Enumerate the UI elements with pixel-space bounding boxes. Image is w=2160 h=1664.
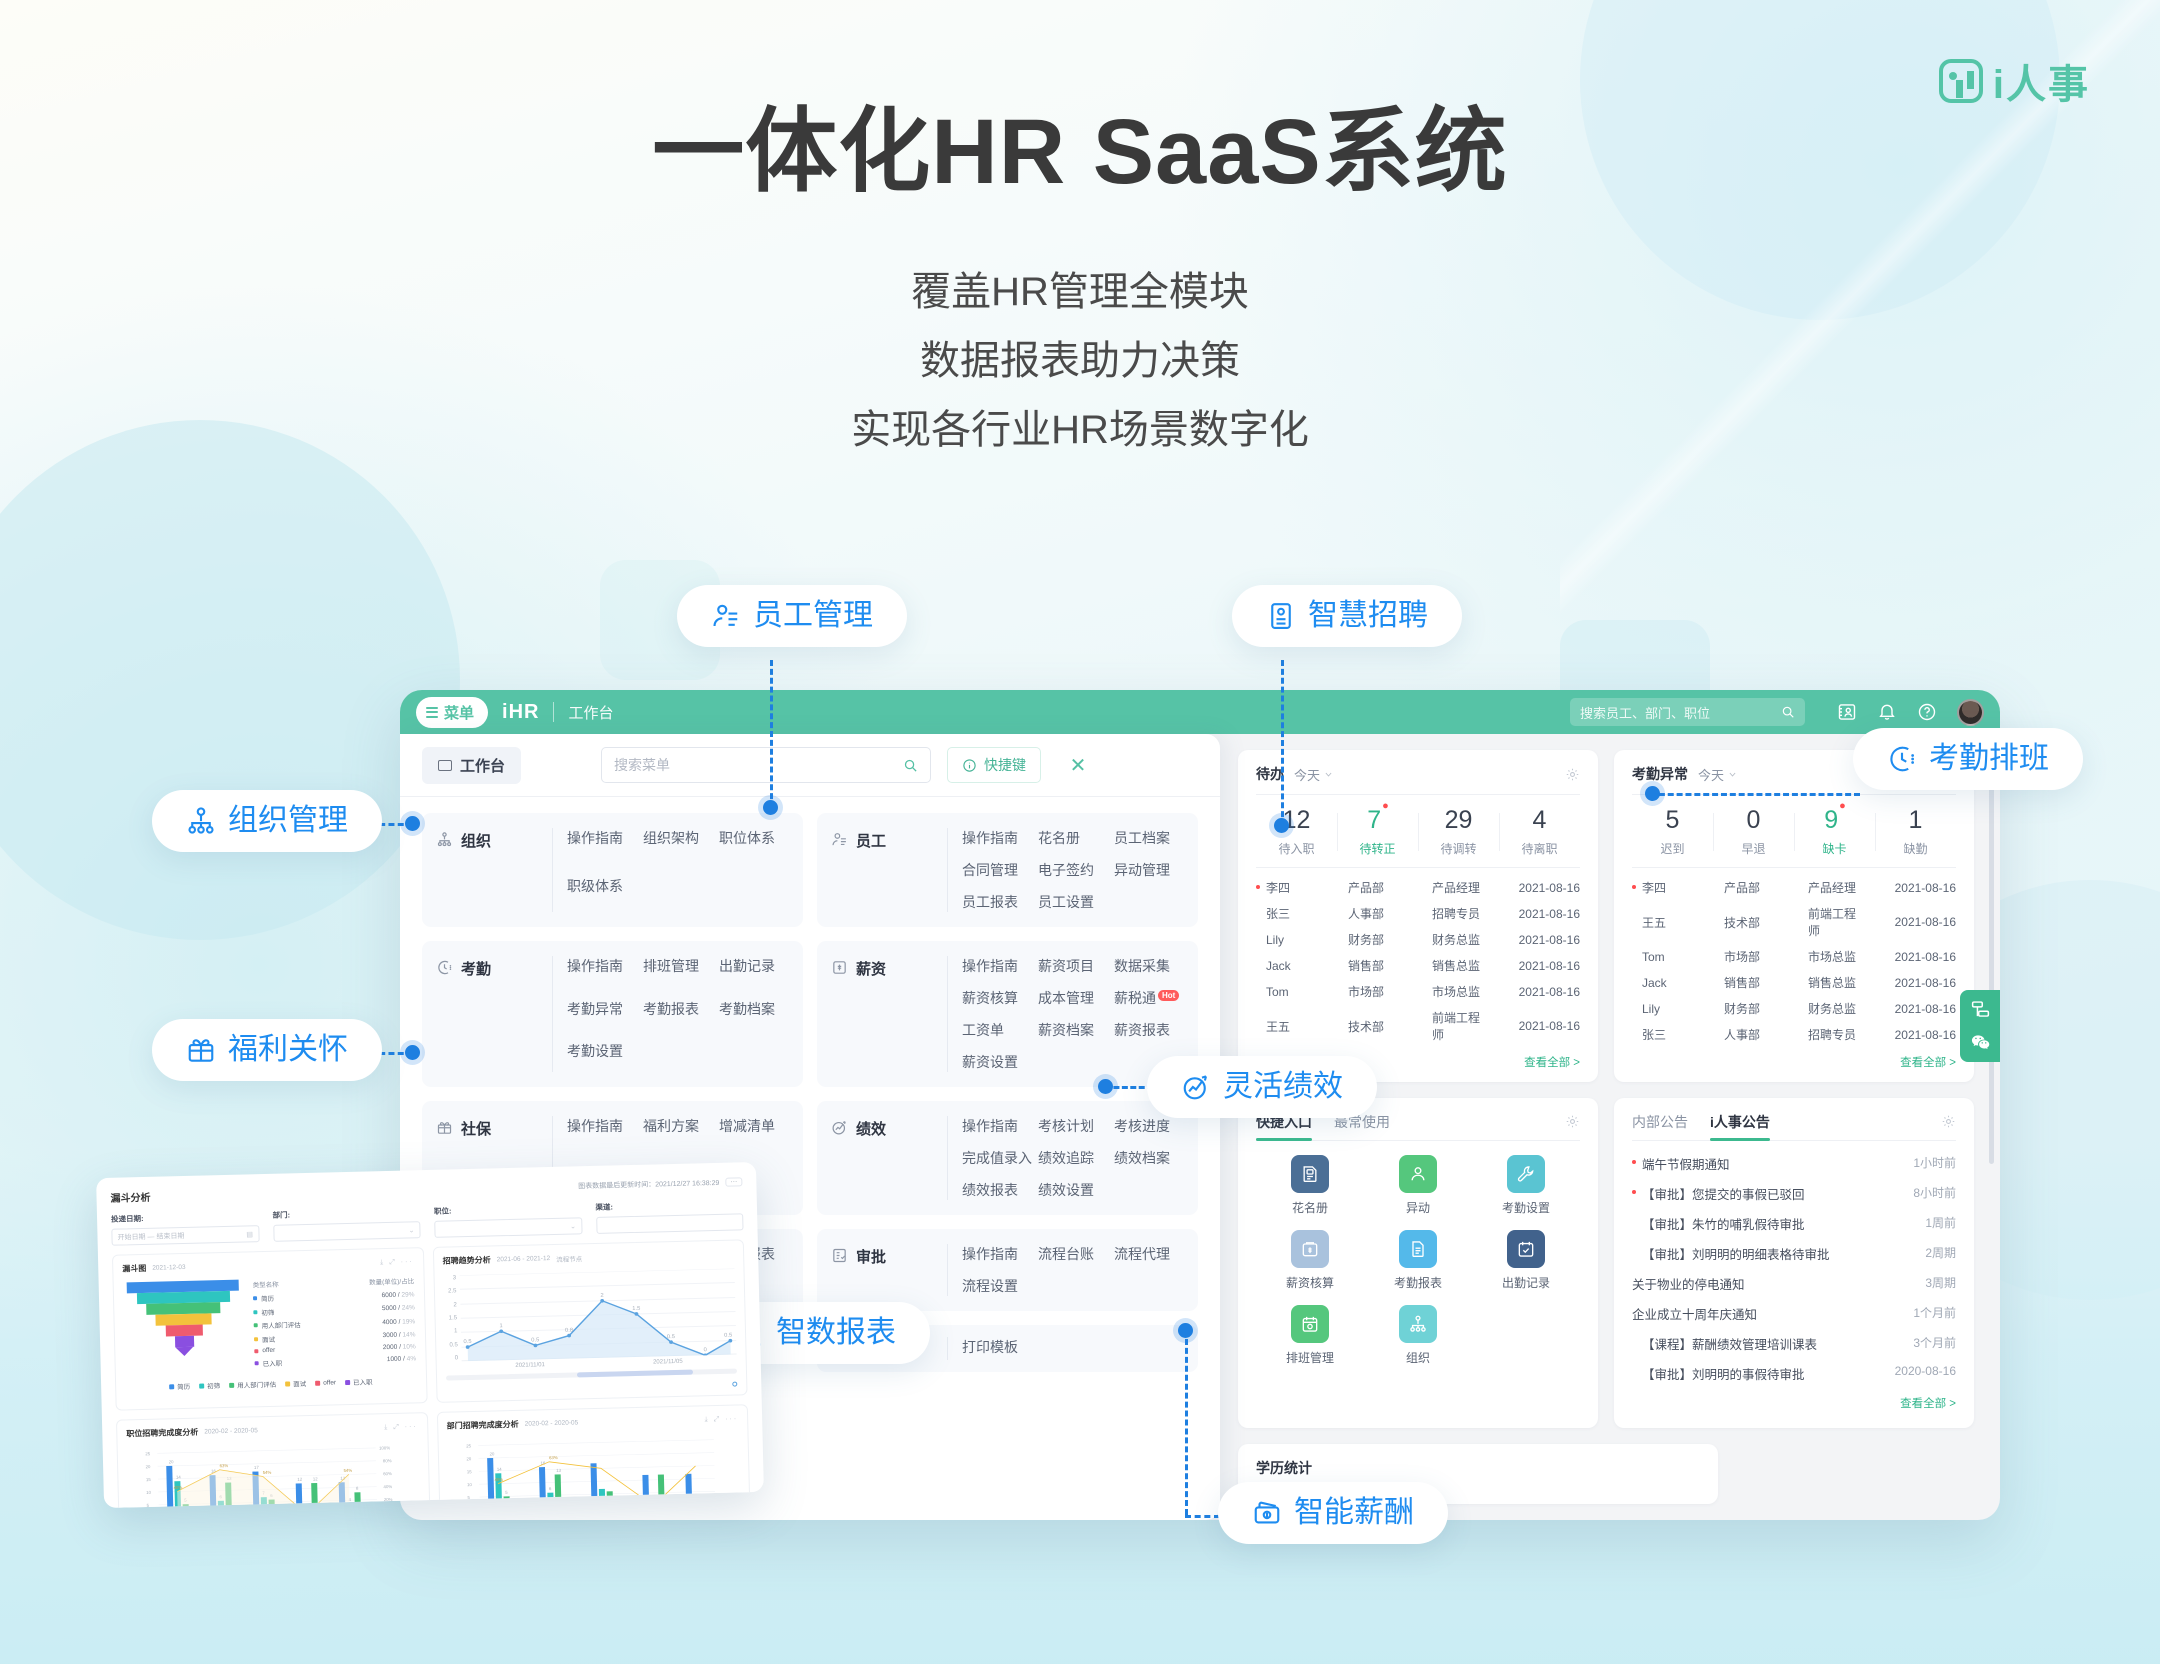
global-search-placeholder: 搜索员工、部门、职位 (1580, 703, 1773, 722)
menu-button-label: 菜单 (444, 702, 474, 723)
svg-text:5: 5 (505, 1490, 508, 1495)
menu-item[interactable]: 操作指南 (962, 828, 1034, 848)
menu-item[interactable]: 考勤异常 (567, 999, 639, 1030)
chart-header: 招聘趋势分析 2021-06 - 2021-12 流程节点 (443, 1249, 735, 1267)
callout-reports-label: 智数报表 (776, 1318, 896, 1348)
hamburger-icon (426, 707, 438, 718)
notice-title: 【课程】薪酬绩效管理培训课表 (1642, 1338, 1817, 1352)
svg-text:40%: 40% (383, 1484, 392, 1489)
bell-icon[interactable] (1877, 702, 1897, 722)
quick-item-label: 考勤报表 (1364, 1274, 1472, 1291)
list-item[interactable]: 端午节假期通知1小时前 (1632, 1149, 1956, 1179)
todo-stat-label: 待入职 (1256, 840, 1337, 857)
list-item[interactable]: 【审批】您提交的事假已驳回8小时前 (1632, 1179, 1956, 1209)
callout-payroll[interactable]: 智能薪酬 (1218, 1482, 1448, 1544)
menu-item[interactable]: 操作指南 (962, 1244, 1034, 1264)
legend-name: 简历 (261, 1290, 375, 1303)
salary-icon (1291, 1230, 1329, 1268)
calendar-icon: ▤ (246, 1230, 253, 1238)
y-tick: 2.5 (443, 1289, 456, 1295)
attendance-stat-value: 0 (1713, 807, 1794, 835)
position-select[interactable]: ⌄ (434, 1217, 582, 1238)
attendance-title: 考勤异常 (1632, 764, 1688, 784)
legend-name: 面试 (262, 1331, 376, 1344)
avatar[interactable] (1957, 699, 1984, 726)
analytics-filters: 投递日期: 开始日期 — 结束日期 ▤ 部门: ⌄ 职位: ⌄ 渠道: (111, 1198, 744, 1245)
row-name: Lily (1266, 933, 1284, 947)
hero-subtitle-2: 数据报表助力决策 (0, 327, 2160, 396)
attendance-stat-label: 早退 (1713, 840, 1794, 857)
quick-item-label: 排班管理 (1256, 1349, 1364, 1366)
y-tick: 0 (445, 1355, 458, 1361)
dashboard-area: 待办 今天 12待入职 7●待转正 29待调转 4待离职 李四产 (1220, 734, 2000, 1520)
contacts-icon[interactable] (1837, 702, 1857, 722)
x-tick: 2021/11/01 (515, 1362, 545, 1369)
menu-item[interactable]: 异动管理 (1114, 860, 1186, 880)
row-date: 2021-08-16 (1488, 985, 1580, 999)
id-card-icon (1266, 601, 1296, 631)
legend-label: 用人部门评估 (237, 1379, 276, 1390)
table-row[interactable]: 李四产品部产品经理2021-08-16 (1632, 875, 1956, 901)
svg-text:54%: 54% (343, 1468, 352, 1473)
chart-range: 2020-02 - 2020-05 (204, 1427, 258, 1435)
row-date: 2021-08-16 (1488, 959, 1580, 973)
notice-title: 企业成立十周年庆通知 (1632, 1308, 1757, 1322)
attendance-stat[interactable]: 9●缺卡 (1794, 807, 1875, 857)
svg-text:80%: 80% (383, 1458, 392, 1463)
menu-item[interactable]: 流程台账 (1038, 1244, 1110, 1264)
attendance-card: 考勤异常 今天 5迟到 0早退 9●缺卡 1缺勤 李四产品部产品经理2021-0… (1614, 750, 1974, 1082)
connector-employee (770, 660, 773, 808)
menu-item[interactable]: 操作指南 (567, 1116, 639, 1152)
todo-stat-label: 待离职 (1499, 840, 1580, 857)
menu-item[interactable]: 绩效设置 (1038, 1180, 1110, 1200)
trend-scroll-slider[interactable] (445, 1369, 737, 1381)
quick-item-attendance-settings[interactable]: 考勤设置 (1472, 1155, 1580, 1216)
hot-badge: Hot (1158, 990, 1179, 1001)
quick-item-roster[interactable]: 花名册 (1256, 1155, 1364, 1216)
svg-text:15: 15 (146, 1477, 152, 1482)
menu-item[interactable]: 考勤档案 (719, 999, 791, 1030)
attendance-stat[interactable]: 1缺勤 (1875, 807, 1956, 857)
trend-canvas: 0.5 1 0.5 0.8 2 1.5 0.5 0 0.5 (459, 1269, 737, 1362)
notice-time: 3个月前 (1913, 1334, 1956, 1353)
legend-row: 已入职1000 / 4% (255, 1354, 417, 1368)
notice-title: 关于物业的停电通知 (1632, 1278, 1745, 1292)
menu-group-name: 组织 (461, 830, 491, 851)
menu-item[interactable]: 打印模板 (962, 1337, 1034, 1360)
row-dept: 产品部 (1724, 879, 1808, 896)
menu-group-items: 操作指南 薪资项目 数据采集 薪资核算 成本管理 薪税通Hot 工资单 薪资档案… (947, 956, 1186, 1072)
row-job: 产品经理 (1432, 879, 1488, 896)
row-date: 2021-08-16 (1864, 881, 1956, 895)
callout-recruit-label: 智慧招聘 (1308, 601, 1428, 631)
row-date: 2021-08-16 (1864, 1028, 1956, 1042)
legend-entry[interactable]: 简历 (169, 1381, 190, 1392)
notice-time: 1个月前 (1913, 1304, 1956, 1323)
svg-text:1.5: 1.5 (632, 1306, 640, 1312)
menu-item[interactable]: 流程设置 (962, 1276, 1034, 1296)
callout-performance[interactable]: 灵活绩效 (1147, 1056, 1377, 1118)
legend-percent: 4% (407, 1355, 417, 1362)
svg-text:12: 12 (297, 1477, 303, 1482)
gear-icon[interactable] (1565, 767, 1580, 782)
menu-item[interactable]: 职位体系 (719, 828, 791, 864)
callout-performance-label: 灵活绩效 (1223, 1072, 1343, 1102)
callout-org[interactable]: 组织管理 (152, 790, 382, 852)
chart-tools[interactable]: ⤓ ⤢ ··· (384, 1423, 418, 1432)
menu-group-approval: 审批 操作指南 流程台账 流程代理 流程设置 (817, 1229, 1198, 1311)
callout-employee[interactable]: 员工管理 (677, 585, 907, 647)
menu-item[interactable]: 成本管理 (1038, 988, 1110, 1008)
menu-item[interactable]: 薪资报表 (1114, 1020, 1186, 1040)
attendance-stats: 5迟到 0早退 9●缺卡 1缺勤 (1632, 795, 1956, 867)
svg-text:14: 14 (176, 1475, 182, 1480)
row-job: 销售总监 (1808, 974, 1864, 991)
svg-text:20: 20 (466, 1456, 472, 1461)
funnel-graphic (123, 1280, 245, 1358)
chart-title: 职位招聘完成度分析 (126, 1427, 198, 1440)
chart-extra: 流程节点 (556, 1253, 582, 1264)
todo-stat[interactable]: 29待调转 (1418, 807, 1499, 857)
menu-group-items: 操作指南 排班管理 出勤记录 考勤异常 考勤报表 考勤档案 考勤设置 (552, 956, 791, 1072)
quick-item-label: 考勤设置 (1472, 1199, 1580, 1216)
callout-recruit[interactable]: 智慧招聘 (1232, 585, 1462, 647)
row-name: Jack (1642, 976, 1667, 990)
tab-workbench[interactable]: 工作台 (422, 747, 521, 784)
gear-icon[interactable] (1941, 1114, 1956, 1129)
list-item[interactable]: 【课程】薪酬绩效管理培训课表3个月前 (1632, 1329, 1956, 1359)
svg-text:60%: 60% (383, 1471, 392, 1476)
chart-header: 漏斗图 2021-12-03 ⤓ ⤢ ··· (122, 1256, 414, 1274)
svg-text:54%: 54% (263, 1470, 272, 1475)
notice-title: 【审批】刘明明的事假待审批 (1642, 1368, 1805, 1382)
menu-item[interactable]: 员工设置 (1038, 892, 1110, 912)
clock-icon (1887, 744, 1917, 774)
connector-recruit (1281, 660, 1284, 826)
menu-item[interactable]: 操作指南 (962, 1116, 1034, 1136)
attendance-stat[interactable]: 0早退 (1713, 807, 1794, 857)
menu-group-header: 薪资 (831, 956, 939, 1072)
date-range-input[interactable]: 开始日期 — 结束日期 ▤ (111, 1225, 259, 1246)
menu-group-payroll: 薪资 操作指南 薪资项目 数据采集 薪资核算 成本管理 薪税通Hot 工资单 薪… (817, 941, 1198, 1087)
list-item[interactable]: 【审批】刘明明的明细表格待审批2周期 (1632, 1239, 1956, 1269)
menu-item[interactable]: 流程代理 (1114, 1244, 1186, 1264)
help-icon[interactable] (1917, 702, 1937, 722)
row-dept: 人事部 (1348, 905, 1432, 922)
legend-col-name: 类型名称 (253, 1276, 370, 1289)
menu-item[interactable]: 考核进度 (1114, 1116, 1186, 1136)
quick-item-label: 异动 (1364, 1199, 1472, 1216)
menu-item[interactable]: 操作指南 (962, 956, 1034, 976)
menu-item[interactable]: 考勤报表 (643, 999, 715, 1030)
todo-stat-value: 7● (1337, 807, 1418, 835)
menu-item[interactable]: 绩效档案 (1114, 1148, 1186, 1168)
callout-employee-label: 员工管理 (753, 601, 873, 631)
chevron-down-icon: ⌄ (570, 1222, 576, 1230)
filter-label: 职位: (434, 1202, 582, 1217)
menu-group-org: 组织 操作指南 组织架构 职位体系 职级体系 (422, 813, 803, 927)
legend-col-value: 数量(单位)/占比 (369, 1275, 414, 1286)
row-job: 销售总监 (1432, 957, 1488, 974)
wallet-icon (831, 959, 848, 976)
notices-list: 端午节假期通知1小时前 【审批】您提交的事假已驳回8小时前 【审批】朱竹的哺乳假… (1632, 1141, 1956, 1413)
calendar-icon (1291, 1305, 1329, 1343)
notices-view-all-link[interactable]: 查看全部 > (1632, 1389, 1956, 1413)
svg-text:0.5: 0.5 (666, 1334, 674, 1340)
table-row[interactable]: 李四产品部产品经理2021-08-16 (1256, 875, 1580, 901)
connector-dot-employee (763, 800, 778, 815)
menu-item[interactable]: 考勤设置 (567, 1041, 639, 1072)
menu-item[interactable]: 电子签约 (1038, 860, 1110, 880)
funnel-body: 类型名称数量(单位)/占比 简历6000 / 29% 初筛5000 / 24% … (123, 1275, 417, 1374)
row-date: 2021-08-16 (1864, 976, 1956, 990)
quick-item-attendance-report[interactable]: 考勤报表 (1364, 1230, 1472, 1291)
table-row[interactable]: Tom市场部市场总监2021-08-16 (1632, 944, 1956, 970)
callout-welfare[interactable]: 福利关怀 (152, 1019, 382, 1081)
row-name: Tom (1642, 950, 1665, 964)
svg-text:25: 25 (145, 1451, 151, 1456)
tab-internal-notice[interactable]: 内部公告 (1632, 1112, 1688, 1141)
chart-tools[interactable]: ⤓ ⤢ ··· (704, 1415, 738, 1424)
menu-item[interactable]: 绩效报表 (962, 1180, 1034, 1200)
legend-entry[interactable]: 初筛 (199, 1380, 220, 1391)
wrench-icon (1507, 1155, 1545, 1193)
todo-period-select[interactable]: 今天 (1294, 765, 1333, 784)
connector-dot-performance (1098, 1079, 1113, 1094)
svg-text:0.5: 0.5 (463, 1339, 471, 1345)
svg-text:17: 17 (254, 1465, 260, 1470)
table-row[interactable]: Lily财务部财务总监2021-08-16 (1256, 927, 1580, 953)
todo-stat[interactable]: 4待离职 (1499, 807, 1580, 857)
flowchart-icon[interactable] (1970, 999, 1991, 1020)
svg-text:12: 12 (313, 1476, 319, 1481)
menu-button[interactable]: 菜单 (416, 697, 488, 728)
notices-card: 内部公告 i人事公告 端午节假期通知1小时前 【审批】您提交的事假已驳回8小时前… (1614, 1098, 1974, 1428)
row-dept: 销售部 (1724, 974, 1808, 991)
menu-item[interactable]: 薪资设置 (962, 1052, 1034, 1072)
search-input[interactable] (614, 757, 895, 773)
legend-name: 已入职 (263, 1355, 377, 1368)
app-bar-divider (553, 702, 554, 722)
callout-welfare-label: 福利关怀 (228, 1035, 348, 1065)
menu-group-name: 考勤 (461, 958, 491, 979)
menu-group-items: 操作指南 流程台账 流程代理 流程设置 (947, 1244, 1186, 1296)
menu-item[interactable]: 数据采集 (1114, 956, 1186, 976)
approval-icon (831, 1247, 848, 1264)
department-select[interactable]: ⌄ (273, 1221, 421, 1242)
menu-item[interactable]: 薪资核算 (962, 988, 1034, 1008)
menu-item[interactable]: 操作指南 (567, 956, 639, 987)
connector-dot-recruit (1274, 818, 1289, 833)
org-tree-icon (436, 831, 453, 848)
table-row[interactable]: Jack销售部销售总监2021-08-16 (1256, 953, 1580, 979)
menu-item[interactable]: 增减清单 (719, 1116, 791, 1152)
row-name: Jack (1266, 959, 1291, 973)
legend-percent: 24% (402, 1304, 415, 1311)
trend-line-svg: 0.5 1 0.5 0.8 2 1.5 0.5 0 0.5 (459, 1269, 737, 1362)
svg-text:15: 15 (466, 1469, 472, 1474)
attendance-stat[interactable]: 5迟到 (1632, 807, 1713, 857)
legend-percent: 14% (402, 1331, 415, 1338)
legend-entry[interactable]: offer (315, 1377, 336, 1388)
list-item[interactable]: 【审批】朱竹的哺乳假待审批1周前 (1632, 1209, 1956, 1239)
legend-label: offer (323, 1379, 336, 1386)
svg-text:0.5: 0.5 (724, 1333, 732, 1339)
menu-item[interactable]: 薪资项目 (1038, 956, 1110, 976)
funnel-segment (155, 1313, 211, 1325)
menu-item[interactable]: 花名册 (1038, 828, 1110, 848)
svg-text:40%: 40% (174, 1485, 183, 1490)
todo-stats: 12待入职 7●待转正 29待调转 4待离职 (1256, 795, 1580, 867)
menu-item[interactable]: 职级体系 (567, 876, 639, 912)
menu-item[interactable]: 考核计划 (1038, 1116, 1110, 1136)
floating-side-buttons (1960, 990, 2000, 1062)
row-date: 2021-08-16 (1864, 950, 1956, 964)
row-name: 张三 (1266, 907, 1290, 921)
quick-entry-grid: 花名册 异动 考勤设置 薪资核算 (1256, 1141, 1580, 1372)
table-row[interactable]: 王五技术部前端工程师2021-08-16 (1632, 901, 1956, 944)
table-row[interactable]: Jack销售部销售总监2021-08-16 (1632, 970, 1956, 996)
menu-item[interactable]: 出勤记录 (719, 956, 791, 987)
attendance-stat-label: 缺勤 (1875, 840, 1956, 857)
menu-item[interactable]: 完成值录入 (962, 1148, 1034, 1168)
table-row[interactable]: 张三人事部招聘专员2021-08-16 (1256, 901, 1580, 927)
table-row[interactable]: Lily财务部财务总监2021-08-16 (1632, 996, 1956, 1022)
filter-date: 投递日期: 开始日期 — 结束日期 ▤ (111, 1210, 259, 1246)
list-item[interactable]: 【审批】刘明明的事假待审批2020-08-16 (1632, 1359, 1956, 1389)
menu-item[interactable]: 工资单 (962, 1020, 1034, 1040)
quick-item-label: 组织 (1364, 1349, 1472, 1366)
menu-item[interactable]: 排班管理 (643, 956, 715, 987)
info-icon (962, 758, 977, 773)
attendance-stat-value: 9● (1794, 807, 1875, 835)
menu-item[interactable]: 组织架构 (643, 828, 715, 864)
chart-tools[interactable]: ⤓ ⤢ ··· (380, 1258, 414, 1267)
trend-target-icon (831, 1119, 848, 1136)
table-row[interactable]: Tom市场部市场总监2021-08-16 (1256, 979, 1580, 1005)
global-search-input[interactable]: 搜索员工、部门、职位 (1570, 698, 1805, 726)
notice-title: 端午节假期通知 (1642, 1158, 1730, 1172)
y-tick: 2 (444, 1302, 457, 1308)
legend-entry[interactable] (732, 1382, 737, 1387)
row-dept: 市场部 (1348, 983, 1432, 1000)
chart-department-completion: 部门招聘完成度分析 2020-02 - 2020-05 ⤓ ⤢ ··· 2520… (436, 1404, 751, 1508)
todo-stat[interactable]: 12待入职 (1256, 807, 1337, 857)
todo-stat-label: 待转正 (1337, 840, 1418, 857)
analytics-title: 漏斗分析 (110, 1189, 150, 1205)
todo-stat-value: 12 (1256, 807, 1337, 835)
svg-text:20: 20 (146, 1464, 152, 1469)
tab-ihr-notice[interactable]: i人事公告 (1710, 1112, 1770, 1141)
svg-text:13: 13 (556, 1468, 562, 1473)
gear-icon[interactable] (1565, 1114, 1580, 1129)
menu-item-hot[interactable]: 薪税通Hot (1114, 988, 1186, 1008)
list-item[interactable]: 企业成立十周年庆通知1个月前 (1632, 1299, 1956, 1329)
notice-time: 1周前 (1925, 1214, 1956, 1233)
channel-select[interactable] (596, 1213, 744, 1234)
org-tree-icon (1399, 1305, 1437, 1343)
analytics-updated-text: 图表数据最后更新时间：2021/12/27 16:38:29 (578, 1177, 719, 1190)
dashboard-row-bottom: 快捷入口 最常使用 花名册 异动 (1238, 1098, 1974, 1428)
svg-text:10: 10 (467, 1482, 473, 1487)
funnel-tip (175, 1347, 193, 1356)
menu-item[interactable]: 操作指南 (567, 828, 639, 864)
quick-item-transfer[interactable]: 异动 (1364, 1155, 1472, 1216)
menu-item[interactable]: 员工报表 (962, 892, 1034, 912)
chart-trend: 招聘趋势分析 2021-06 - 2021-12 流程节点 3 2.5 2 1.… (432, 1239, 747, 1403)
table-row[interactable]: 张三人事部招聘专员2021-08-16 (1632, 1022, 1956, 1048)
attendance-period-select[interactable]: 今天 (1698, 765, 1737, 784)
legend-entry[interactable]: 已入职 (345, 1376, 373, 1387)
connector-dot-welfare (405, 1045, 420, 1060)
row-job: 财务总监 (1432, 931, 1488, 948)
menu-item[interactable]: 绩效追踪 (1038, 1148, 1110, 1168)
quick-item-org[interactable]: 组织 (1364, 1305, 1472, 1366)
callout-attendance[interactable]: 考勤排班 (1853, 728, 2083, 790)
dashboard-scrollbar[interactable] (1989, 744, 1994, 1164)
menu-item[interactable]: 员工档案 (1114, 828, 1186, 848)
quick-item-shift[interactable]: 排班管理 (1256, 1305, 1364, 1366)
analytics-more-button[interactable]: ··· (725, 1177, 742, 1186)
position-bars: 252015 1050 100%80%60% 40%20%0% 20145 (127, 1438, 421, 1508)
attendance-stat-value: 1 (1875, 807, 1956, 835)
legend-entry[interactable]: 面试 (285, 1378, 306, 1389)
connector-attendance (1650, 793, 1860, 796)
quick-item-payroll-calc[interactable]: 薪资核算 (1256, 1230, 1364, 1291)
roster-icon (1291, 1155, 1329, 1193)
menu-group-employee: 员工 操作指南 花名册 员工档案 合同管理 电子签约 异动管理 员工报表 员工设… (817, 813, 1198, 927)
attendance-view-all-link[interactable]: 查看全部 > (1632, 1048, 1956, 1072)
legend-name: offer (262, 1344, 376, 1354)
menu-group-items: 打印模板 (947, 1337, 1186, 1360)
notice-time: 2020-08-16 (1895, 1364, 1956, 1383)
svg-text:63%: 63% (549, 1455, 558, 1460)
analytics-window: 漏斗分析 图表数据最后更新时间：2021/12/27 16:38:29 ··· … (96, 1162, 764, 1508)
quick-item-attendance-record[interactable]: 出勤记录 (1472, 1230, 1580, 1291)
row-name: 王五 (1266, 1020, 1290, 1034)
attendance-stat-label: 缺卡 (1794, 840, 1875, 857)
legend-entry[interactable]: 用人部门评估 (229, 1379, 276, 1390)
attendance-period-value: 今天 (1698, 765, 1724, 784)
y-tick: 1.5 (444, 1315, 457, 1321)
chart-range: 2020-02 - 2020-05 (525, 1419, 579, 1427)
analytics-charts: 漏斗图 2021-12-03 ⤓ ⤢ ··· 类型名称数量(单位)/占比 简历6… (112, 1239, 751, 1508)
hotkey-button[interactable]: 快捷键 (947, 747, 1041, 783)
menu-group-items: 操作指南 花名册 员工档案 合同管理 电子签约 异动管理 员工报表 员工设置 (947, 828, 1186, 912)
close-icon[interactable]: ✕ (1063, 750, 1093, 780)
list-item[interactable]: 关于物业的停电通知3周期 (1632, 1269, 1956, 1299)
checkcal-icon (1507, 1230, 1545, 1268)
filter-label: 渠道: (595, 1198, 743, 1213)
table-row[interactable]: 王五技术部前端工程师2021-08-16 (1256, 1005, 1580, 1048)
filter-position: 职位: ⌄ (434, 1202, 582, 1238)
notice-title: 【审批】您提交的事假已驳回 (1642, 1188, 1805, 1202)
legend-row: 面试3000 / 14% (254, 1330, 416, 1344)
row-dept: 人事部 (1724, 1026, 1808, 1043)
row-job: 招聘专员 (1808, 1026, 1864, 1043)
menu-item[interactable]: 合同管理 (962, 860, 1034, 880)
menu-item[interactable]: 福利方案 (643, 1116, 715, 1152)
wechat-icon[interactable] (1970, 1032, 1991, 1053)
todo-stat[interactable]: 7●待转正 (1337, 807, 1418, 857)
notice-time: 2周期 (1925, 1244, 1956, 1263)
svg-text:40%: 40% (494, 1477, 503, 1482)
legend-row: 简历6000 / 29% (253, 1289, 415, 1303)
svg-text:0.8: 0.8 (564, 1328, 572, 1334)
menu-item[interactable]: 薪资档案 (1038, 1020, 1110, 1040)
menu-search[interactable] (601, 747, 931, 783)
